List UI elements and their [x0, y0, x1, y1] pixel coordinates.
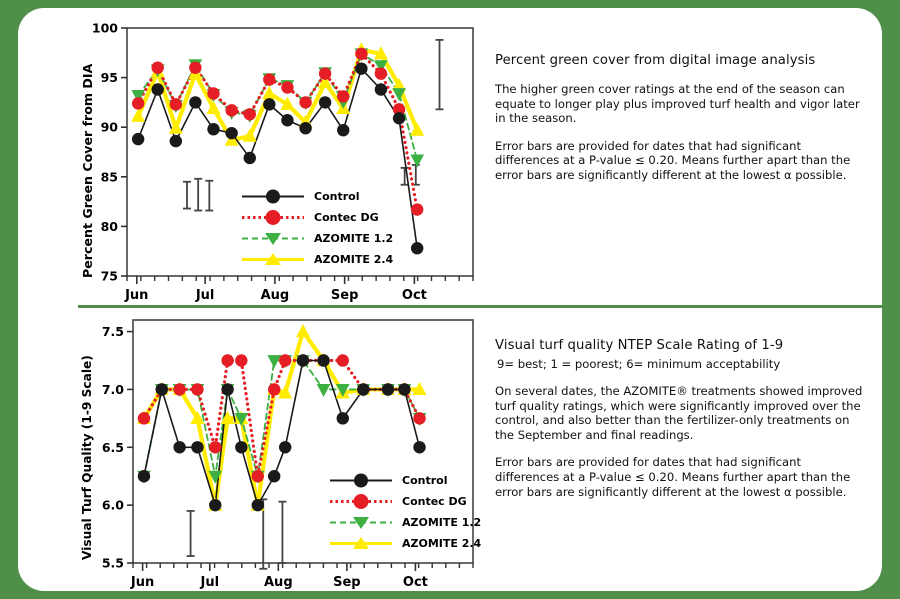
green-cover-paragraph-2: Error bars are provided for dates that h…	[495, 139, 865, 183]
y-tick-label: 100	[92, 21, 118, 36]
data-point	[235, 441, 247, 453]
data-point	[375, 67, 387, 79]
data-point	[398, 383, 410, 395]
data-point	[268, 470, 280, 482]
turf-quality-paragraph-1: On several dates, the AZOMITE® treatment…	[495, 384, 867, 442]
legend-label-azomite24-2: AZOMITE 2.4	[402, 537, 481, 550]
legend-label-azomite24: AZOMITE 2.4	[314, 253, 393, 266]
data-point	[337, 354, 349, 366]
y-tick-label: 90	[101, 120, 119, 135]
data-point	[263, 73, 275, 85]
data-point	[189, 96, 201, 108]
x-tick-label: Aug	[264, 575, 293, 590]
turf-quality-legend: Control Contec DG AZOMIT	[328, 470, 481, 554]
legend-key-azomite12	[240, 228, 306, 249]
legend-item-contec: Contec DG	[240, 207, 393, 228]
y-tick-label: 85	[101, 169, 118, 184]
y-tick-label: 6.0	[102, 498, 124, 513]
data-point	[299, 96, 311, 108]
data-point	[138, 412, 150, 424]
y-tick-label: 6.5	[102, 440, 124, 455]
data-point	[225, 127, 237, 139]
x-tick-label: Jul	[199, 575, 219, 590]
legend-key-contec-2	[328, 491, 394, 512]
x-tick-label: Sep	[333, 575, 361, 590]
data-point	[151, 83, 163, 95]
data-point	[281, 81, 293, 93]
data-point	[337, 412, 349, 424]
turf-quality-title: Visual turf quality NTEP Scale Rating of…	[495, 338, 867, 353]
legend-key-azomite24	[240, 249, 306, 270]
legend-label-azomite12: AZOMITE 1.2	[314, 232, 393, 245]
green-cover-text-panel: Percent green cover from digital image a…	[495, 53, 865, 196]
data-point	[279, 354, 291, 366]
data-point	[191, 441, 203, 453]
data-point	[170, 135, 182, 147]
poster-page: Percent Green Cover from DIA 75808590951…	[0, 0, 900, 599]
data-point	[337, 124, 349, 136]
data-point	[319, 96, 331, 108]
data-point	[252, 499, 264, 511]
data-point	[209, 441, 221, 453]
legend-item-azomite24: AZOMITE 2.4	[240, 249, 393, 270]
data-point	[221, 354, 233, 366]
data-point	[355, 48, 367, 60]
legend-key-azomite24-2	[328, 533, 394, 554]
data-point	[207, 123, 219, 135]
y-tick-label: 7.0	[102, 382, 124, 397]
x-tick-label: Sep	[331, 288, 359, 303]
data-point	[413, 441, 425, 453]
x-tick-label: Oct	[402, 288, 427, 303]
data-point	[355, 62, 367, 74]
y-tick-label: 75	[101, 269, 118, 284]
legend-item-control: Control	[240, 186, 393, 207]
legend-item-control-2: Control	[328, 470, 481, 491]
turf-quality-paragraph-2: Error bars are provided for dates that h…	[495, 455, 867, 499]
data-point	[209, 499, 221, 511]
data-point	[268, 383, 280, 395]
data-point	[382, 383, 394, 395]
x-tick-label: Jun	[130, 575, 154, 590]
data-point	[132, 97, 144, 109]
poster-inner-card: Percent Green Cover from DIA 75808590951…	[18, 8, 882, 591]
data-point	[173, 383, 185, 395]
data-point	[357, 383, 369, 395]
legend-label-control-2: Control	[402, 474, 447, 487]
data-point	[413, 412, 425, 424]
legend-key-control	[240, 186, 306, 207]
data-point	[189, 61, 201, 73]
data-point	[207, 87, 219, 99]
y-tick-label: 95	[101, 70, 118, 85]
legend-key-azomite12-2	[328, 512, 394, 533]
x-tick-label: Jun	[124, 288, 148, 303]
data-point	[297, 354, 309, 366]
data-point	[317, 354, 329, 366]
legend-label-azomite12-2: AZOMITE 1.2	[402, 516, 481, 529]
data-point	[299, 122, 311, 134]
data-point	[132, 133, 144, 145]
data-point	[319, 67, 331, 79]
data-point	[170, 98, 182, 110]
legend-label-control: Control	[314, 190, 359, 203]
x-tick-label: Jul	[195, 288, 215, 303]
legend-label-contec: Contec DG	[314, 211, 379, 224]
data-point	[281, 114, 293, 126]
legend-item-azomite12-2: AZOMITE 1.2	[328, 512, 481, 533]
y-tick-label: 5.5	[102, 556, 124, 571]
data-point	[411, 242, 423, 254]
data-point	[235, 354, 247, 366]
green-cover-legend: Control Contec DG AZOMIT	[240, 186, 393, 270]
turf-quality-text-panel: Visual turf quality NTEP Scale Rating of…	[495, 338, 867, 512]
x-tick-label: Oct	[403, 575, 428, 590]
turf-quality-y-axis-label: Visual Turf Quality (1-9 Scale)	[80, 355, 94, 560]
data-point	[252, 470, 264, 482]
legend-item-azomite12: AZOMITE 1.2	[240, 228, 393, 249]
x-tick-label: Aug	[261, 288, 290, 303]
data-point	[225, 104, 237, 116]
y-tick-label: 7.5	[102, 324, 124, 339]
data-point	[393, 112, 405, 124]
data-point	[138, 470, 150, 482]
legend-item-contec-2: Contec DG	[328, 491, 481, 512]
legend-key-control-2	[328, 470, 394, 491]
data-point	[173, 441, 185, 453]
turf-quality-subtitle: 9= best; 1 = poorest; 6= minimum accepta…	[497, 357, 867, 371]
data-point	[191, 383, 203, 395]
data-point	[244, 108, 256, 120]
data-point	[263, 98, 275, 110]
data-point	[411, 203, 423, 215]
data-point	[156, 383, 168, 395]
green-cover-y-axis-label: Percent Green Cover from DIA	[80, 64, 95, 278]
y-tick-label: 80	[101, 219, 119, 234]
data-point	[337, 90, 349, 102]
data-point	[244, 152, 256, 164]
data-point	[375, 83, 387, 95]
legend-label-contec-2: Contec DG	[402, 495, 467, 508]
green-cover-title: Percent green cover from digital image a…	[495, 53, 865, 68]
data-point	[279, 441, 291, 453]
legend-item-azomite24-2: AZOMITE 2.4	[328, 533, 481, 554]
data-point	[221, 383, 233, 395]
data-point	[151, 61, 163, 73]
green-cover-paragraph-1: The higher green cover ratings at the en…	[495, 82, 865, 126]
legend-key-contec	[240, 207, 306, 228]
